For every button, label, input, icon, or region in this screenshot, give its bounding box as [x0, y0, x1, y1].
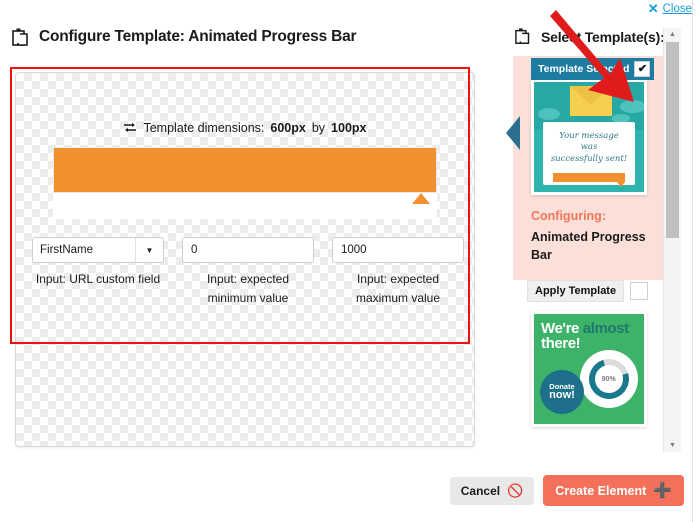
template-thumbnail-email[interactable]: Your message was successfully sent!: [531, 79, 647, 195]
template-card-selected[interactable]: Template Selected ✔ Your message was suc…: [513, 56, 668, 280]
apply-template-checkbox[interactable]: [630, 282, 648, 300]
url-custom-field-value: FirstName: [33, 238, 135, 262]
template-list: Template Selected ✔ Your message was suc…: [505, 56, 675, 446]
close-x-icon: ✕: [648, 2, 659, 15]
donation-headline-c: there!: [541, 335, 580, 352]
template-list-scrollbar[interactable]: ▲ ▼: [663, 28, 681, 452]
dimensions-prefix: Template dimensions:: [143, 121, 264, 135]
configuring-template-name: Animated Progress Bar: [531, 228, 650, 264]
message-text-line1: Your message was: [550, 131, 628, 154]
cancel-button[interactable]: Cancel 🚫: [450, 477, 535, 505]
close-link[interactable]: ✕ Close: [648, 2, 692, 15]
create-element-button[interactable]: Create Element ➕: [543, 475, 684, 506]
cloud-icon: [620, 100, 646, 113]
envelope-flap-icon: [570, 86, 612, 105]
panel-divider: [692, 0, 693, 522]
thumb-progress-bar: [553, 173, 625, 182]
chevron-down-icon[interactable]: ▼: [135, 238, 163, 262]
scroll-up-arrow-icon[interactable]: ▲: [664, 28, 681, 41]
select-templates-heading-text: Select Template(s):: [541, 29, 665, 45]
selected-pointer-icon: [506, 116, 520, 150]
donation-headline-b: almost: [583, 320, 629, 337]
template-selected-checkbox[interactable]: ✔: [634, 61, 650, 77]
dimensions-width: 600px: [270, 121, 305, 135]
template-selected-label: Template Selected: [538, 63, 629, 75]
maximum-value-label: Input: expected maximum value: [332, 270, 464, 307]
configure-panel: Configure Template: Animated Progress Ba…: [0, 20, 490, 54]
template-thumbnail-donation[interactable]: We're almost there! 90% Donate now!: [531, 311, 647, 427]
dialog-footer: Cancel 🚫 Create Element ➕: [450, 475, 684, 506]
message-card: Your message was successfully sent!: [543, 122, 635, 185]
template-dimensions: Template dimensions: 600px by 100px: [16, 121, 474, 135]
plus-icon: ➕: [653, 483, 672, 498]
no-entry-icon: 🚫: [507, 484, 523, 497]
progress-ring-inner: 90%: [582, 352, 636, 406]
progress-bar-preview[interactable]: [53, 147, 437, 219]
create-element-label: Create Element: [555, 484, 646, 498]
copy-templates-icon: [515, 27, 535, 48]
apply-template-label[interactable]: Apply Template: [527, 280, 624, 302]
configure-heading-text: Configure Template: Animated Progress Ba…: [39, 28, 356, 46]
thumb-progress-marker-icon: [617, 182, 625, 187]
progress-ring: 90%: [580, 350, 638, 408]
apply-template-control[interactable]: Apply Template: [527, 280, 648, 302]
dimensions-height: 100px: [331, 121, 366, 135]
scrollbar-thumb[interactable]: [666, 42, 679, 238]
minimum-value-label: Input: expected minimum value: [182, 270, 314, 307]
cancel-button-label: Cancel: [461, 484, 500, 498]
message-text-line2: successfully sent!: [550, 154, 628, 165]
scroll-down-arrow-icon[interactable]: ▼: [664, 439, 681, 452]
configure-heading: Configure Template: Animated Progress Ba…: [0, 20, 490, 54]
dimensions-between: by: [312, 121, 325, 135]
resize-horizontal-icon: [123, 122, 137, 134]
template-card-donation[interactable]: Apply Template We're almost there! 90% D…: [513, 280, 668, 433]
donate-bottom-text: now!: [549, 390, 575, 402]
template-selected-badge[interactable]: Template Selected ✔: [531, 58, 654, 80]
donate-now-badge: Donate now!: [540, 370, 584, 414]
url-custom-field-label: Input: URL custom field: [32, 270, 164, 289]
donation-headline: We're almost there!: [541, 321, 644, 351]
url-custom-field-select[interactable]: FirstName ▼: [32, 237, 164, 263]
copy-templates-icon: [12, 27, 32, 48]
close-label[interactable]: Close: [663, 3, 692, 15]
progress-bar-marker-icon: [412, 193, 430, 204]
progress-ring-percent: 90%: [602, 376, 616, 383]
progress-bar-fill: [53, 147, 437, 193]
cloud-icon: [538, 108, 560, 120]
template-canvas[interactable]: Template dimensions: 600px by 100px Firs…: [15, 72, 475, 447]
template-fields: FirstName ▼ Input: URL custom field 0 In…: [32, 237, 474, 307]
field-group-minimum-value: 0 Input: expected minimum value: [182, 237, 314, 307]
minimum-value-input[interactable]: 0: [182, 237, 314, 263]
maximum-value-input[interactable]: 1000: [332, 237, 464, 263]
field-group-maximum-value: 1000 Input: expected maximum value: [332, 237, 464, 307]
configuring-label: Configuring:: [531, 209, 668, 223]
field-group-url-custom-field: FirstName ▼ Input: URL custom field: [32, 237, 164, 307]
